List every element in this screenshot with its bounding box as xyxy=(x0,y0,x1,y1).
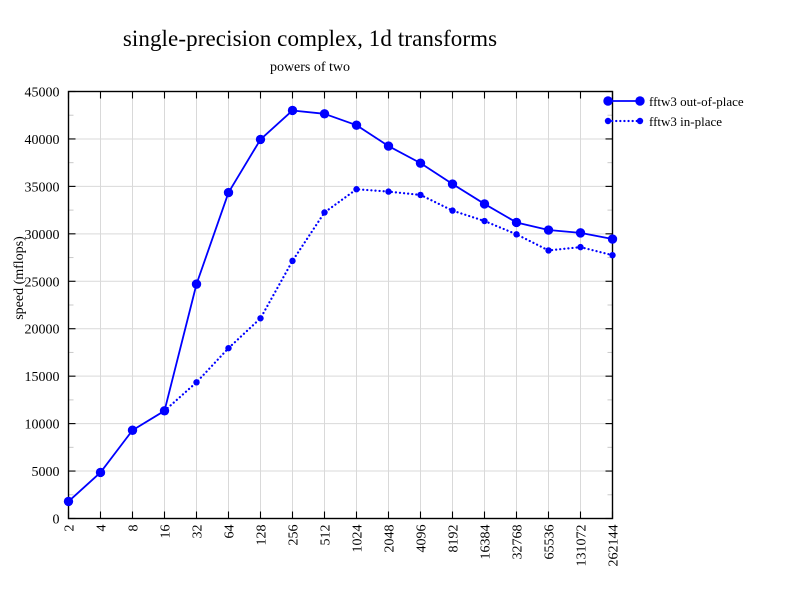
data-point-marker xyxy=(193,379,199,385)
data-point-marker xyxy=(288,106,297,115)
data-point-marker xyxy=(385,188,391,194)
x-tick-label: 262144 xyxy=(607,525,622,567)
data-point-marker xyxy=(96,468,105,477)
x-tick-label: 8192 xyxy=(447,525,462,553)
grid-layer xyxy=(69,92,613,519)
x-tick-label: 128 xyxy=(255,525,270,546)
data-point-marker xyxy=(225,345,231,351)
y-tick-label: 35000 xyxy=(25,180,60,195)
x-tick-label: 64 xyxy=(223,525,238,539)
data-point-marker xyxy=(352,120,361,129)
y-tick-label: 30000 xyxy=(25,228,60,243)
x-tick-label: 131072 xyxy=(575,525,590,567)
y-tick-label: 25000 xyxy=(25,275,60,290)
data-point-marker xyxy=(257,315,263,321)
y-tick-label: 15000 xyxy=(25,370,60,385)
x-tick-label: 2 xyxy=(63,525,78,532)
x-tick-label: 2048 xyxy=(383,525,398,553)
data-point-marker xyxy=(64,497,73,506)
data-point-marker xyxy=(448,179,457,188)
data-point-marker xyxy=(513,231,519,237)
data-point-marker xyxy=(416,158,425,167)
y-tick-label: 20000 xyxy=(25,323,60,338)
data-point-marker xyxy=(576,228,585,237)
x-tick-label: 256 xyxy=(287,525,302,546)
data-point-marker xyxy=(544,225,553,234)
legend-marker-sample xyxy=(605,118,611,124)
y-tick-label: 10000 xyxy=(25,418,60,433)
data-point-marker xyxy=(161,408,167,414)
legend-marker-sample xyxy=(637,118,643,124)
legend-label: fftw3 out-of-place xyxy=(649,94,744,109)
data-point-marker xyxy=(128,426,137,435)
y-axis-ticks: 0500010000150002000025000300003500040000… xyxy=(25,86,613,528)
data-series-layer xyxy=(64,106,617,506)
data-point-marker xyxy=(192,279,201,288)
data-point-marker xyxy=(417,192,423,198)
data-point-marker xyxy=(224,188,233,197)
data-point-marker xyxy=(480,199,489,208)
chart-legend: fftw3 out-of-placefftw3 in-place xyxy=(603,94,744,129)
y-tick-label: 40000 xyxy=(25,133,60,148)
x-tick-label: 8 xyxy=(127,525,142,532)
data-point-marker xyxy=(449,207,455,213)
data-point-marker xyxy=(289,258,295,264)
data-point-marker xyxy=(512,218,521,227)
plot-frame xyxy=(69,92,613,519)
y-tick-label: 0 xyxy=(53,513,60,528)
data-point-marker xyxy=(577,244,583,250)
legend-marker-sample xyxy=(635,96,644,105)
y-tick-label: 45000 xyxy=(25,86,60,101)
x-tick-label: 4096 xyxy=(415,525,430,553)
data-point-marker xyxy=(545,247,551,253)
series-line xyxy=(69,110,613,501)
x-tick-label: 32768 xyxy=(511,525,526,560)
data-point-marker xyxy=(320,109,329,118)
x-tick-label: 16 xyxy=(159,525,174,539)
x-tick-label: 32 xyxy=(191,525,206,539)
legend-marker-sample xyxy=(603,96,612,105)
x-tick-label: 4 xyxy=(95,525,110,532)
data-point-marker xyxy=(609,252,615,258)
data-point-marker xyxy=(384,141,393,150)
data-point-marker xyxy=(608,234,617,243)
x-tick-label: 1024 xyxy=(351,525,366,553)
chart-container: single-precision complex, 1d transforms … xyxy=(0,0,792,612)
x-tick-label: 65536 xyxy=(543,525,558,560)
data-point-marker xyxy=(481,218,487,224)
plot-svg: 0500010000150002000025000300003500040000… xyxy=(0,0,792,612)
data-point-marker xyxy=(321,209,327,215)
x-tick-label: 16384 xyxy=(479,525,494,560)
legend-label: fftw3 in-place xyxy=(649,114,722,129)
minor-tick-layer xyxy=(69,115,613,495)
x-tick-label: 512 xyxy=(319,525,334,546)
y-tick-label: 5000 xyxy=(32,465,60,480)
data-point-marker xyxy=(256,135,265,144)
data-point-marker xyxy=(353,186,359,192)
